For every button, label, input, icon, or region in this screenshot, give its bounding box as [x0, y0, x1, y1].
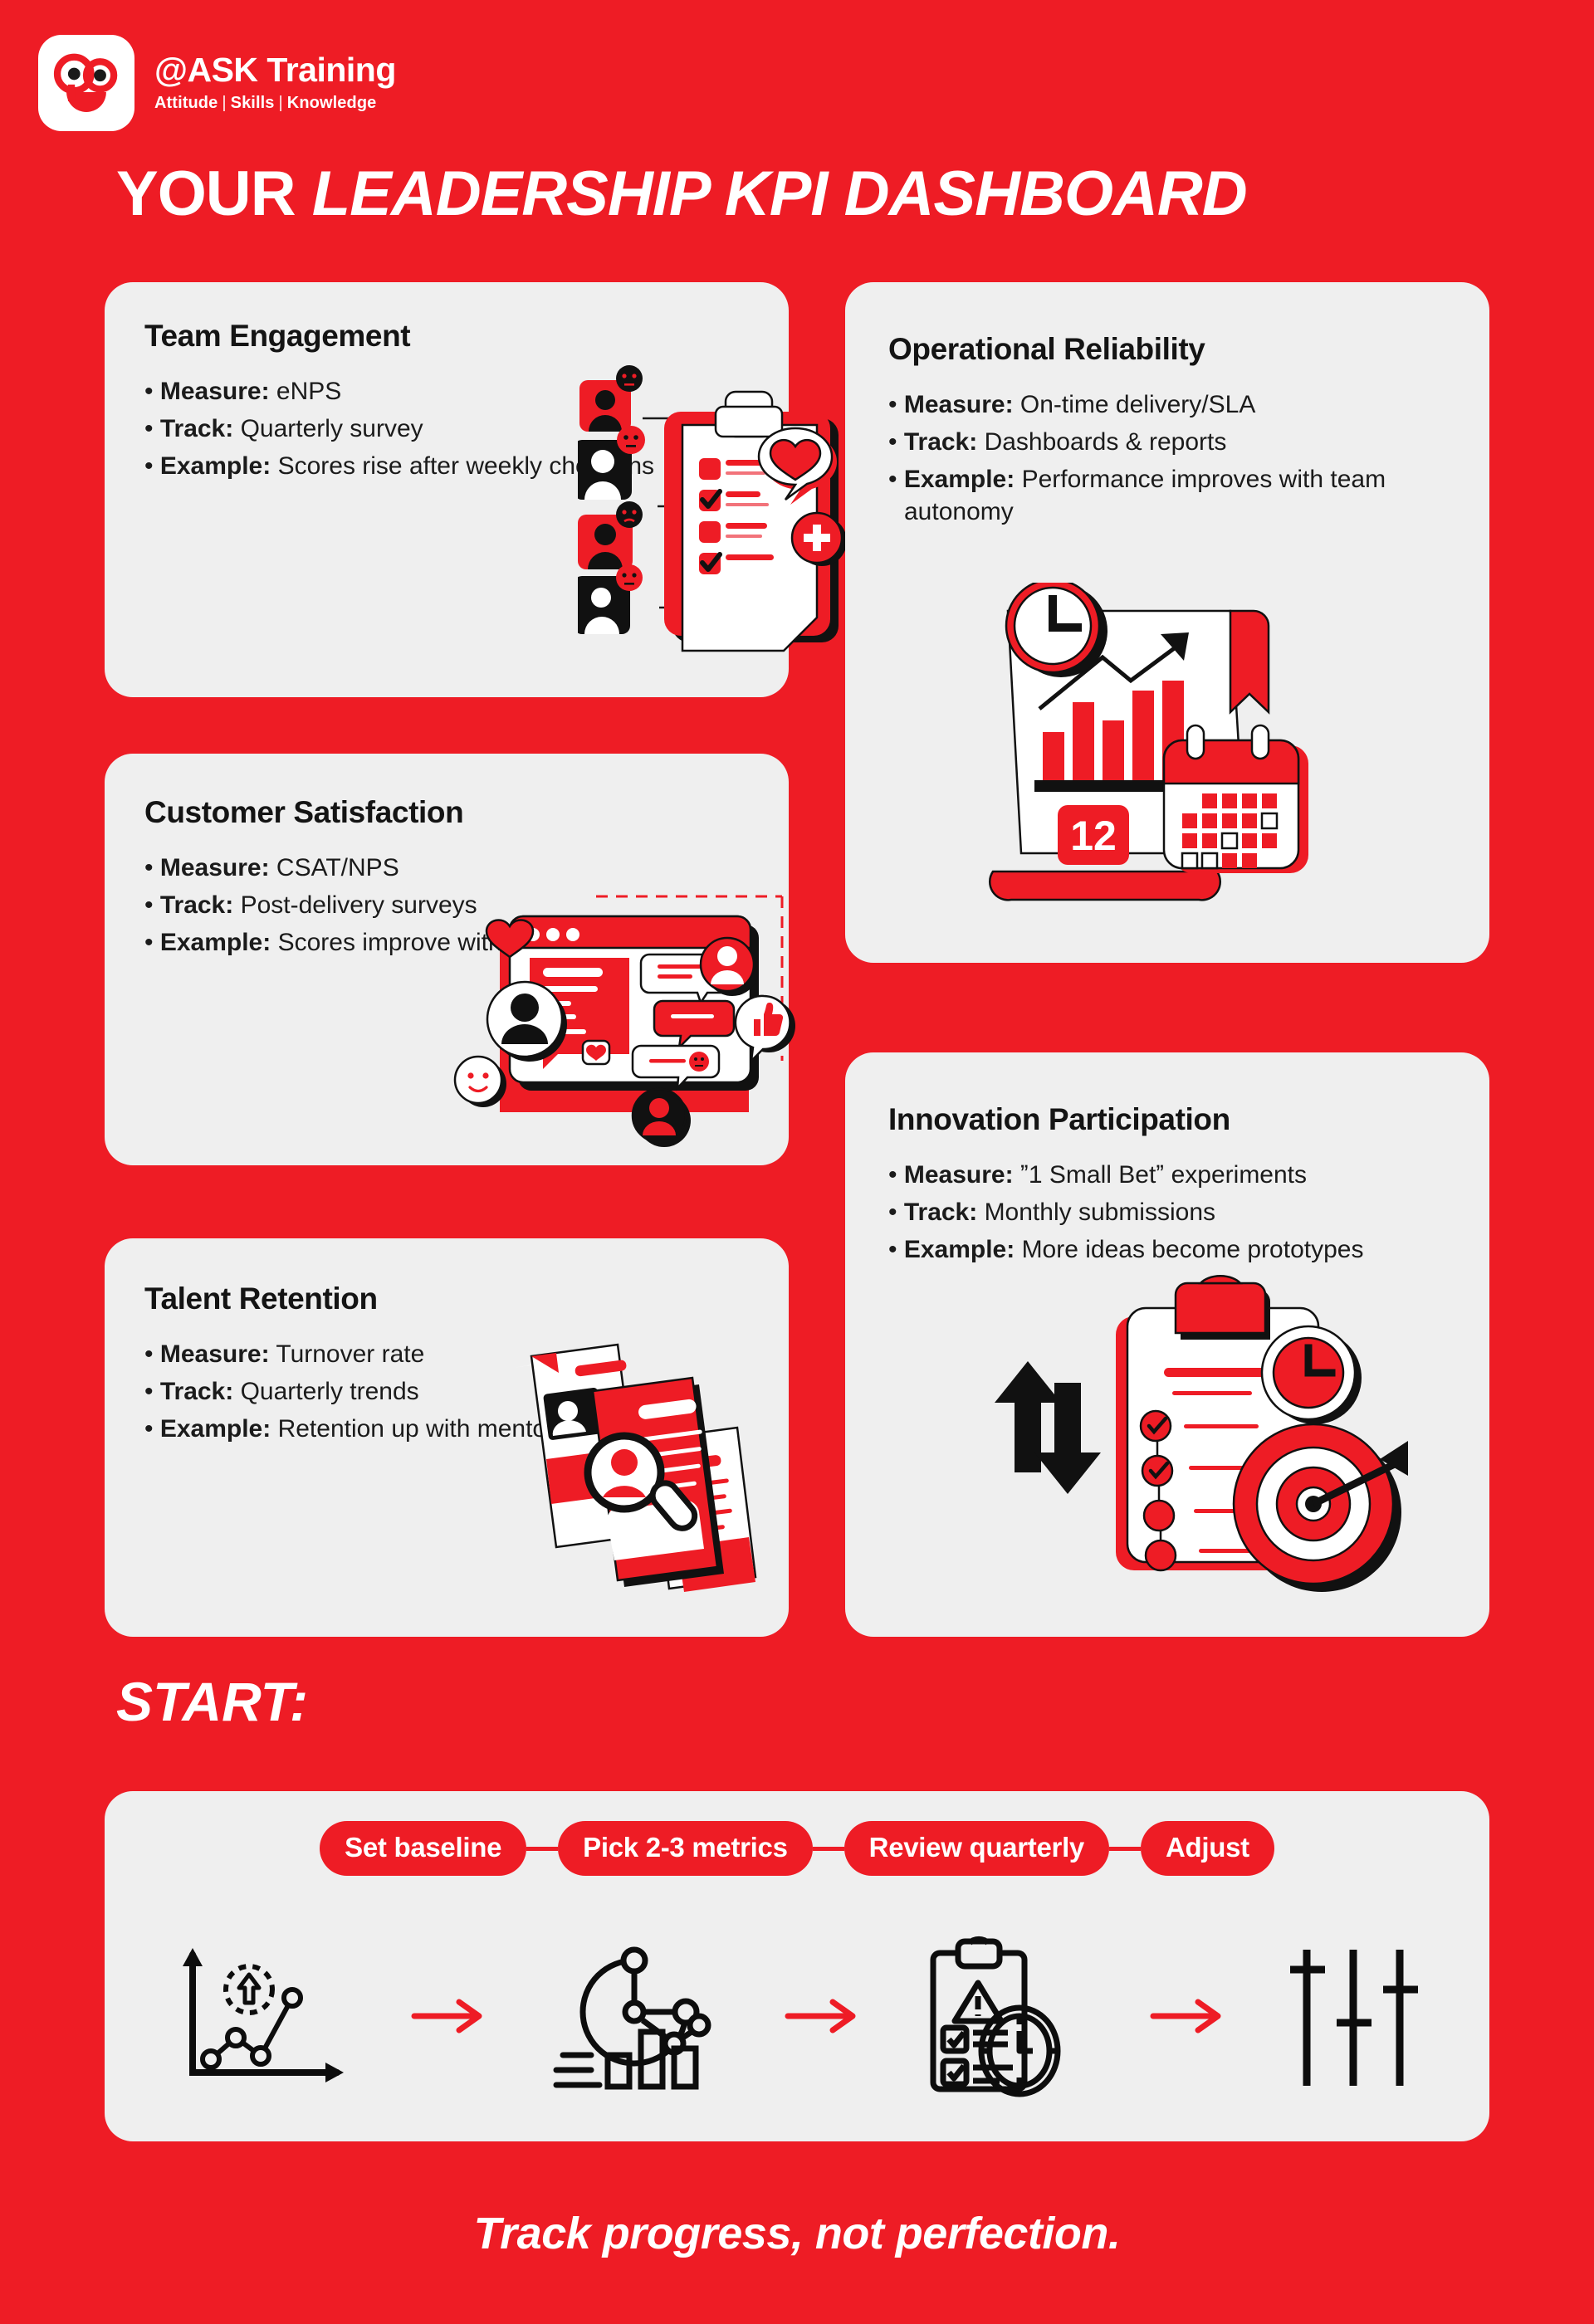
brand-wordmark: @ASK Training Attitude|Skills|Knowledge: [154, 53, 396, 113]
line-chart-growth-icon: [174, 1943, 349, 2092]
bullet-value: Monthly submissions: [977, 1199, 1215, 1226]
pill-connector: [526, 1847, 558, 1851]
bullet-label: Measure:: [904, 1161, 1014, 1189]
list-item: • Track: Quarterly survey: [144, 413, 749, 445]
calendar-day-number: 12: [1070, 813, 1117, 859]
bullet-value: Quarterly survey: [233, 415, 423, 442]
pill-connector: [813, 1847, 844, 1851]
list-item: • Example: More ideas become prototypes: [888, 1233, 1446, 1266]
list-item: • Example: Performance improves with tea…: [888, 463, 1446, 528]
bullet-label: Measure:: [160, 378, 270, 405]
brand-name: @ASK Training: [154, 53, 396, 87]
bullet-label: Example:: [160, 929, 271, 956]
list-item: • Example: Retention up with mentorship: [144, 1413, 749, 1445]
card-bullet-list: • Measure: eNPS • Track: Quarterly surve…: [144, 375, 749, 482]
bullet-value: Post-delivery surveys: [233, 891, 477, 919]
step-pill-row: Set baseline Pick 2-3 metrics Review qua…: [105, 1821, 1489, 1876]
brand-logo: @ASK Training Attitude|Skills|Knowledge: [38, 35, 396, 131]
list-item: • Measure: Turnover rate: [144, 1338, 749, 1370]
clock-chart-calendar-illustration: 12: [985, 583, 1317, 931]
step-pill-adjust[interactable]: Adjust: [1141, 1821, 1274, 1876]
brand-tagline-knowledge: Knowledge: [287, 94, 377, 112]
card-title: Team Engagement: [144, 319, 749, 354]
list-item: • Measure: On-time delivery/SLA: [888, 388, 1446, 421]
arrow-right-icon: [1150, 1998, 1225, 2038]
step-pill-set-baseline[interactable]: Set baseline: [320, 1821, 526, 1876]
kpi-card-operational-reliability: Operational Reliability • Measure: On-ti…: [845, 282, 1489, 963]
list-item: • Example: Scores rise after weekly chec…: [144, 450, 749, 482]
bullet-label: Example:: [904, 466, 1015, 493]
arrow-right-icon: [785, 1998, 859, 2038]
bullet-label: Track:: [904, 428, 977, 456]
list-item: • Track: Monthly submissions: [888, 1196, 1446, 1228]
card-bullet-list: • Measure: Turnover rate • Track: Quarte…: [144, 1338, 749, 1445]
step-pill-pick-metrics[interactable]: Pick 2-3 metrics: [558, 1821, 813, 1876]
brand-tagline-sep-2: |: [275, 94, 287, 112]
bullet-value: CSAT/NPS: [270, 854, 399, 881]
pie-chart-metrics-icon: [548, 1939, 722, 2097]
brand-tagline: Attitude|Skills|Knowledge: [154, 94, 396, 113]
list-item: • Track: Dashboards & reports: [888, 426, 1446, 458]
bullet-label: Measure:: [160, 1340, 270, 1368]
list-item: • Measure: eNPS: [144, 375, 749, 408]
bullet-label: Track:: [904, 1199, 977, 1226]
bullet-value: Retention up with mentorship: [271, 1415, 600, 1443]
card-title: Customer Satisfaction: [144, 795, 749, 830]
card-title: Operational Reliability: [888, 332, 1446, 367]
pill-connector: [1109, 1847, 1141, 1851]
list-item: • Track: Post-delivery surveys: [144, 889, 749, 921]
kpi-card-team-engagement: Team Engagement • Measure: eNPS • Track:…: [105, 282, 789, 697]
card-bullet-list: • Measure: On-time delivery/SLA • Track:…: [888, 388, 1446, 528]
bullet-value: ˮ1 Small Betˮ experiments: [1014, 1161, 1307, 1189]
list-item: • Measure: CSAT/NPS: [144, 852, 749, 884]
bullet-value: Dashboards & reports: [977, 428, 1226, 456]
list-item: • Track: Quarterly trends: [144, 1375, 749, 1408]
card-bullet-list: • Measure: ˮ1 Small Betˮ experiments • T…: [888, 1159, 1446, 1266]
bullet-label: Example:: [904, 1236, 1015, 1263]
sliders-adjust-icon: [1287, 1943, 1420, 2092]
bullet-label: Measure:: [904, 391, 1014, 418]
bullet-value: Quarterly trends: [233, 1378, 418, 1405]
brand-tagline-sep-1: |: [218, 94, 230, 112]
bullet-label: Example:: [160, 452, 271, 480]
list-item: • Measure: ˮ1 Small Betˮ experiments: [888, 1159, 1446, 1191]
bullet-label: Track:: [160, 415, 233, 442]
bullet-value: On-time delivery/SLA: [1014, 391, 1256, 418]
card-title: Talent Retention: [144, 1282, 749, 1316]
step-icon-row: [105, 1922, 1489, 2113]
brand-tagline-skills: Skills: [231, 94, 275, 112]
footer-tagline: Track progress, not perfection.: [0, 2208, 1594, 2259]
bullet-value: eNPS: [270, 378, 342, 405]
poster-root: @ASK Training Attitude|Skills|Knowledge …: [0, 0, 1594, 2324]
list-item: • Example: Scores improve with better co…: [144, 926, 749, 959]
bullet-value: Turnover rate: [270, 1340, 425, 1368]
brand-tagline-attitude: Attitude: [154, 94, 218, 112]
page-title-plain: YOUR: [116, 159, 312, 229]
start-steps-panel: Set baseline Pick 2-3 metrics Review qua…: [105, 1791, 1489, 2141]
bullet-label: Track:: [160, 1378, 233, 1405]
bullet-value: Scores rise after weekly check-ins: [271, 452, 654, 480]
page-title: YOUR LEADERSHIP KPI DASHBOARD: [116, 158, 1544, 230]
kpi-card-innovation-participation: Innovation Participation • Measure: ˮ1 S…: [845, 1052, 1489, 1637]
clipboard-target-clock-illustration: [946, 1270, 1408, 1602]
bullet-label: Measure:: [160, 854, 270, 881]
bullet-label: Example:: [160, 1415, 271, 1443]
ask-training-logo-icon: [38, 35, 134, 131]
start-heading: START:: [116, 1670, 308, 1733]
card-bullet-list: • Measure: CSAT/NPS • Track: Post-delive…: [144, 852, 749, 959]
card-title: Innovation Participation: [888, 1102, 1446, 1137]
arrow-right-icon: [411, 1998, 486, 2038]
bullet-value: More ideas become prototypes: [1015, 1236, 1363, 1263]
kpi-card-customer-satisfaction: Customer Satisfaction • Measure: CSAT/NP…: [105, 754, 789, 1165]
bullet-value: Scores improve with better communication: [271, 929, 747, 956]
kpi-card-talent-retention: Talent Retention • Measure: Turnover rat…: [105, 1238, 789, 1637]
bullet-label: Track:: [160, 891, 233, 919]
step-pill-review-quarterly[interactable]: Review quarterly: [844, 1821, 1109, 1876]
clipboard-clock-review-icon: [922, 1935, 1088, 2101]
page-title-emphasis: LEADERSHIP KPI DASHBOARD: [312, 159, 1247, 229]
